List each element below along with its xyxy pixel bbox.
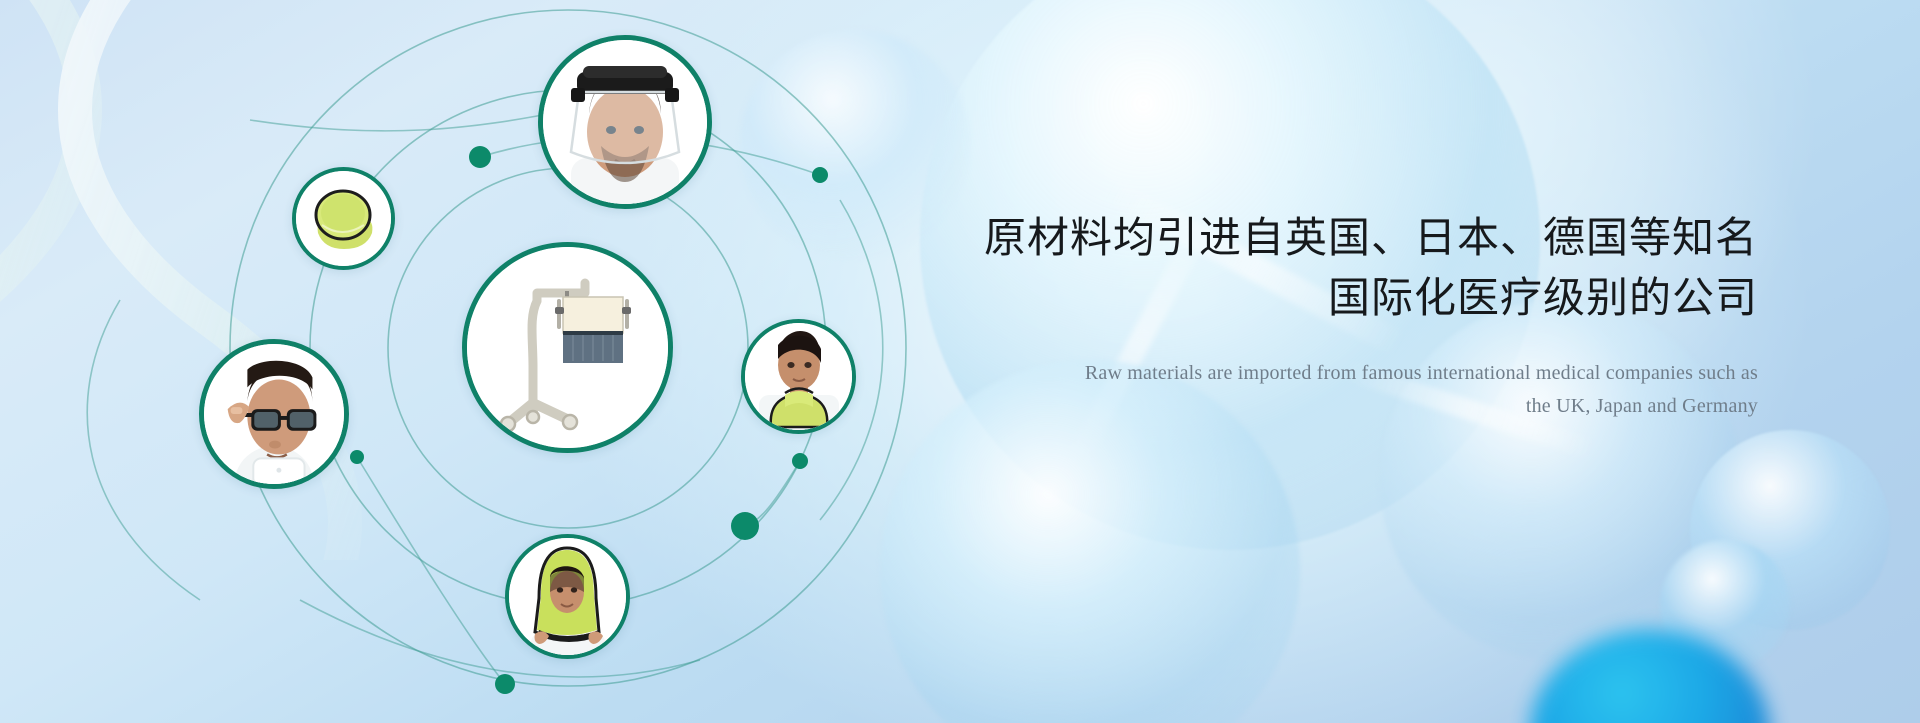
orbit-dot	[469, 146, 491, 168]
mobile-x-ray-protective-barrier-icon	[467, 247, 668, 448]
product-bubble-mobile-x-ray-barrier[interactable]	[462, 242, 673, 453]
barrier-panel	[555, 291, 631, 363]
yellow-green-lead-protective-cap-icon	[296, 171, 391, 266]
page-title: 原材料均引进自英国、日本、德国等知名 国际化医疗级别的公司	[958, 208, 1758, 327]
woman-wearing-lead-protective-hood-icon	[509, 538, 626, 655]
product-bubble-protective-cap[interactable]	[292, 167, 395, 270]
orbit-dot	[731, 512, 759, 540]
product-bubble-thyroid-collar[interactable]	[741, 319, 856, 434]
lead-glasses-icon	[243, 409, 316, 431]
product-bubble-protective-hood[interactable]	[505, 534, 630, 659]
banner-copy: 原材料均引进自英国、日本、德国等知名 国际化医疗级别的公司 Raw materi…	[958, 208, 1758, 442]
orbit-dot	[792, 453, 808, 469]
subtitle-line-2: the UK, Japan and Germany	[958, 390, 1758, 422]
man-wearing-lead-protective-glasses-icon	[204, 344, 344, 484]
man-wearing-radiation-face-shield-icon	[543, 40, 707, 204]
product-bubble-face-shield[interactable]	[538, 35, 712, 209]
subtitle-line-1: Raw materials are imported from famous i…	[1085, 362, 1758, 384]
woman-wearing-thyroid-collar-icon	[745, 323, 852, 430]
orbit-dot	[495, 674, 515, 694]
orbit-dot	[350, 450, 364, 464]
product-bubble-lead-glasses[interactable]	[199, 339, 349, 489]
headline-line-2: 国际化医疗级别的公司	[958, 268, 1758, 328]
banner-subtitle: Raw materials are imported from famous i…	[958, 357, 1758, 422]
headline-line-1: 原材料均引进自英国、日本、德国等知名	[984, 214, 1758, 261]
hero-banner: 原材料均引进自英国、日本、德国等知名 国际化医疗级别的公司 Raw materi…	[0, 0, 1920, 723]
orbit-dot	[812, 167, 828, 183]
